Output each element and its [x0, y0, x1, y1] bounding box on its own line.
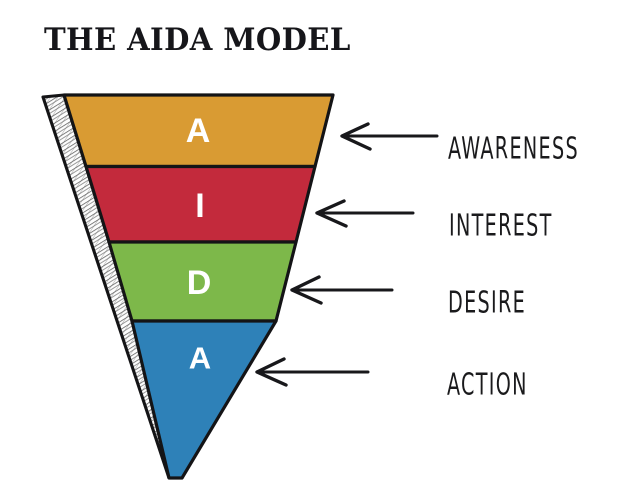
arrow-action — [257, 359, 368, 385]
funnel-letter-awareness: A — [186, 114, 211, 148]
arrow-awareness — [342, 124, 437, 149]
stage-label-interest: INTEREST — [449, 211, 553, 242]
funnel-canvas — [0, 0, 622, 494]
funnel-letter-interest: I — [195, 189, 204, 223]
arrow-interest — [317, 201, 413, 226]
funnel-letter-desire: D — [187, 266, 212, 300]
stage-label-desire: DESIRE — [448, 288, 526, 319]
arrow-desire — [292, 277, 392, 303]
funnel-letter-action: A — [189, 343, 211, 374]
stage-label-awareness: AWARENESS — [448, 134, 579, 165]
stage-label-action: ACTION — [447, 370, 528, 401]
